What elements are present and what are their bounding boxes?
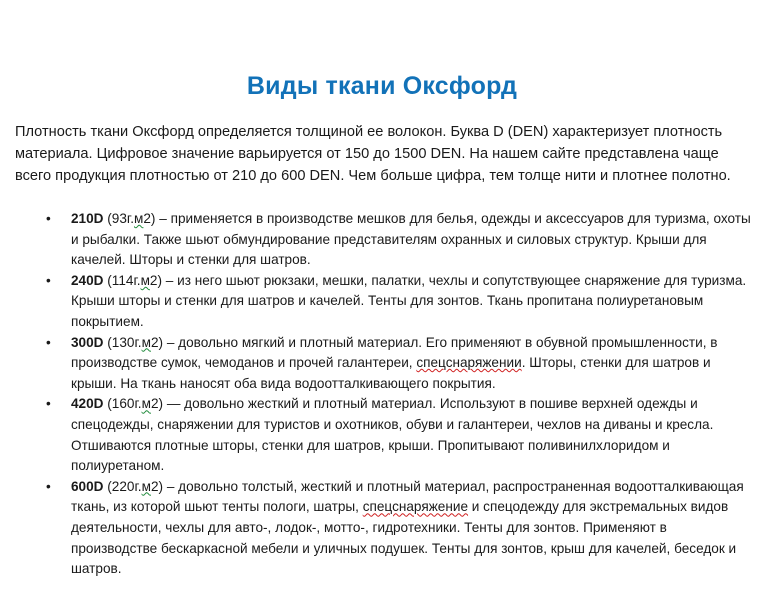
spellcheck-green-word: м xyxy=(142,396,151,411)
spellcheck-red-word: спецснаряжении xyxy=(416,355,521,370)
spellcheck-green-word: м xyxy=(141,273,150,288)
bullet-marker: • xyxy=(46,333,58,354)
bullet-marker: • xyxy=(46,271,58,292)
density-label: 240D xyxy=(71,273,104,288)
weight-value: (160г.м2) xyxy=(107,396,163,411)
list-item: • 600D (220г.м2) – довольно толстый, жес… xyxy=(15,477,755,580)
weight-close: 2) xyxy=(151,479,163,494)
bullet-marker: • xyxy=(46,394,58,415)
density-label: 600D xyxy=(71,479,104,494)
document-page: Виды ткани Оксфорд Плотность ткани Оксфо… xyxy=(0,0,764,616)
list-item: • 240D (114г.м2) – из него шьют рюкзаки,… xyxy=(15,271,755,333)
item-text-before: применяется в производстве мешков для бе… xyxy=(71,211,751,267)
density-label: 300D xyxy=(71,335,104,350)
weight-value: (93г.м2) xyxy=(107,211,155,226)
page-title: Виды ткани Оксфорд xyxy=(0,71,764,101)
weight-open: (130г. xyxy=(107,335,141,350)
density-label: 420D xyxy=(71,396,104,411)
weight-close: 2) xyxy=(150,273,162,288)
fabric-density-list: • 210D (93г.м2) – применяется в производ… xyxy=(15,209,755,580)
spellcheck-red-word: спецснаряжение xyxy=(363,499,468,514)
bullet-marker: • xyxy=(46,477,58,498)
weight-open: (93г. xyxy=(107,211,134,226)
list-item: • 300D (130г.м2) – довольно мягкий и пло… xyxy=(15,333,755,395)
dash: – xyxy=(159,211,167,226)
spellcheck-green-word: м xyxy=(142,479,151,494)
weight-close: 2) xyxy=(151,335,163,350)
weight-value: (114г.м2) xyxy=(107,273,162,288)
density-label: 210D xyxy=(71,211,104,226)
list-item: • 210D (93г.м2) – применяется в производ… xyxy=(15,209,755,271)
intro-paragraph: Плотность ткани Оксфорд определяется тол… xyxy=(15,121,751,188)
weight-value: (220г.м2) xyxy=(107,479,163,494)
weight-close: 2) xyxy=(143,211,155,226)
weight-close: 2) xyxy=(151,396,163,411)
list-item: • 420D (160г.м2) — довольно жесткий и пл… xyxy=(15,394,755,476)
weight-value: (130г.м2) xyxy=(107,335,163,350)
weight-open: (114г. xyxy=(107,273,140,288)
item-text-before: из него шьют рюкзаки, мешки, палатки, че… xyxy=(71,273,746,329)
bullet-marker: • xyxy=(46,209,58,230)
weight-open: (160г. xyxy=(107,396,141,411)
spellcheck-green-word: м xyxy=(134,211,143,226)
weight-open: (220г. xyxy=(107,479,141,494)
dash: — xyxy=(167,396,181,411)
spellcheck-green-word: м xyxy=(142,335,151,350)
